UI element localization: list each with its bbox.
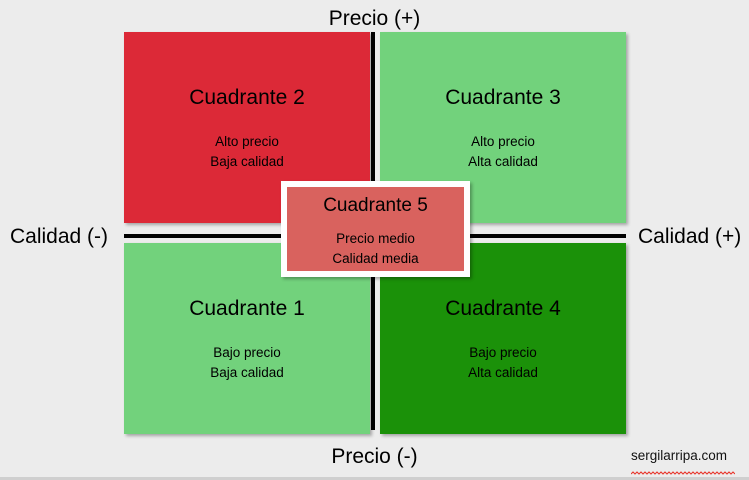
center-box-description: Precio medio Calidad media xyxy=(332,229,418,268)
quadrant-description-line-2: Alta calidad xyxy=(468,152,538,172)
axis-label-quality-negative: Calidad (-) xyxy=(10,226,108,247)
quadrant-description: Bajo precio Alta calidad xyxy=(468,343,538,382)
axis-label-quality-positive: Calidad (+) xyxy=(638,226,741,247)
quadrant-title: Cuadrante 1 xyxy=(189,298,305,319)
quadrant-description-line-2: Alta calidad xyxy=(468,363,538,383)
quadrant-description: Alto precio Alta calidad xyxy=(468,132,538,171)
quadrant-description: Bajo precio Baja calidad xyxy=(210,343,284,382)
quadrant-description-line-2: Baja calidad xyxy=(210,152,284,172)
watermark-text: sergilarripa.com xyxy=(631,448,727,463)
quadrant-title: Cuadrante 4 xyxy=(445,298,561,319)
center-box-description-line-1: Precio medio xyxy=(332,229,418,249)
watermark: sergilarripa.com xyxy=(631,449,735,468)
spellcheck-squiggle-icon xyxy=(631,464,735,468)
quadrant-description: Alto precio Baja calidad xyxy=(210,132,284,171)
axis-label-price-positive: Precio (+) xyxy=(0,8,749,29)
quadrant-description-line-1: Bajo precio xyxy=(210,343,284,363)
center-box-title: Cuadrante 5 xyxy=(323,196,428,215)
quadrant-description-line-2: Baja calidad xyxy=(210,363,284,383)
quadrant-title: Cuadrante 2 xyxy=(189,87,305,108)
quadrant-title: Cuadrante 3 xyxy=(445,87,561,108)
center-box-quadrant-5: Cuadrante 5 Precio medio Calidad media xyxy=(281,181,470,277)
quadrant-description-line-1: Alto precio xyxy=(210,132,284,152)
quadrant-description-line-1: Alto precio xyxy=(468,132,538,152)
diagram-canvas: Precio (+) Precio (-) Calidad (-) Calida… xyxy=(0,0,749,480)
center-box-description-line-2: Calidad media xyxy=(332,249,418,269)
quadrant-description-line-1: Bajo precio xyxy=(468,343,538,363)
